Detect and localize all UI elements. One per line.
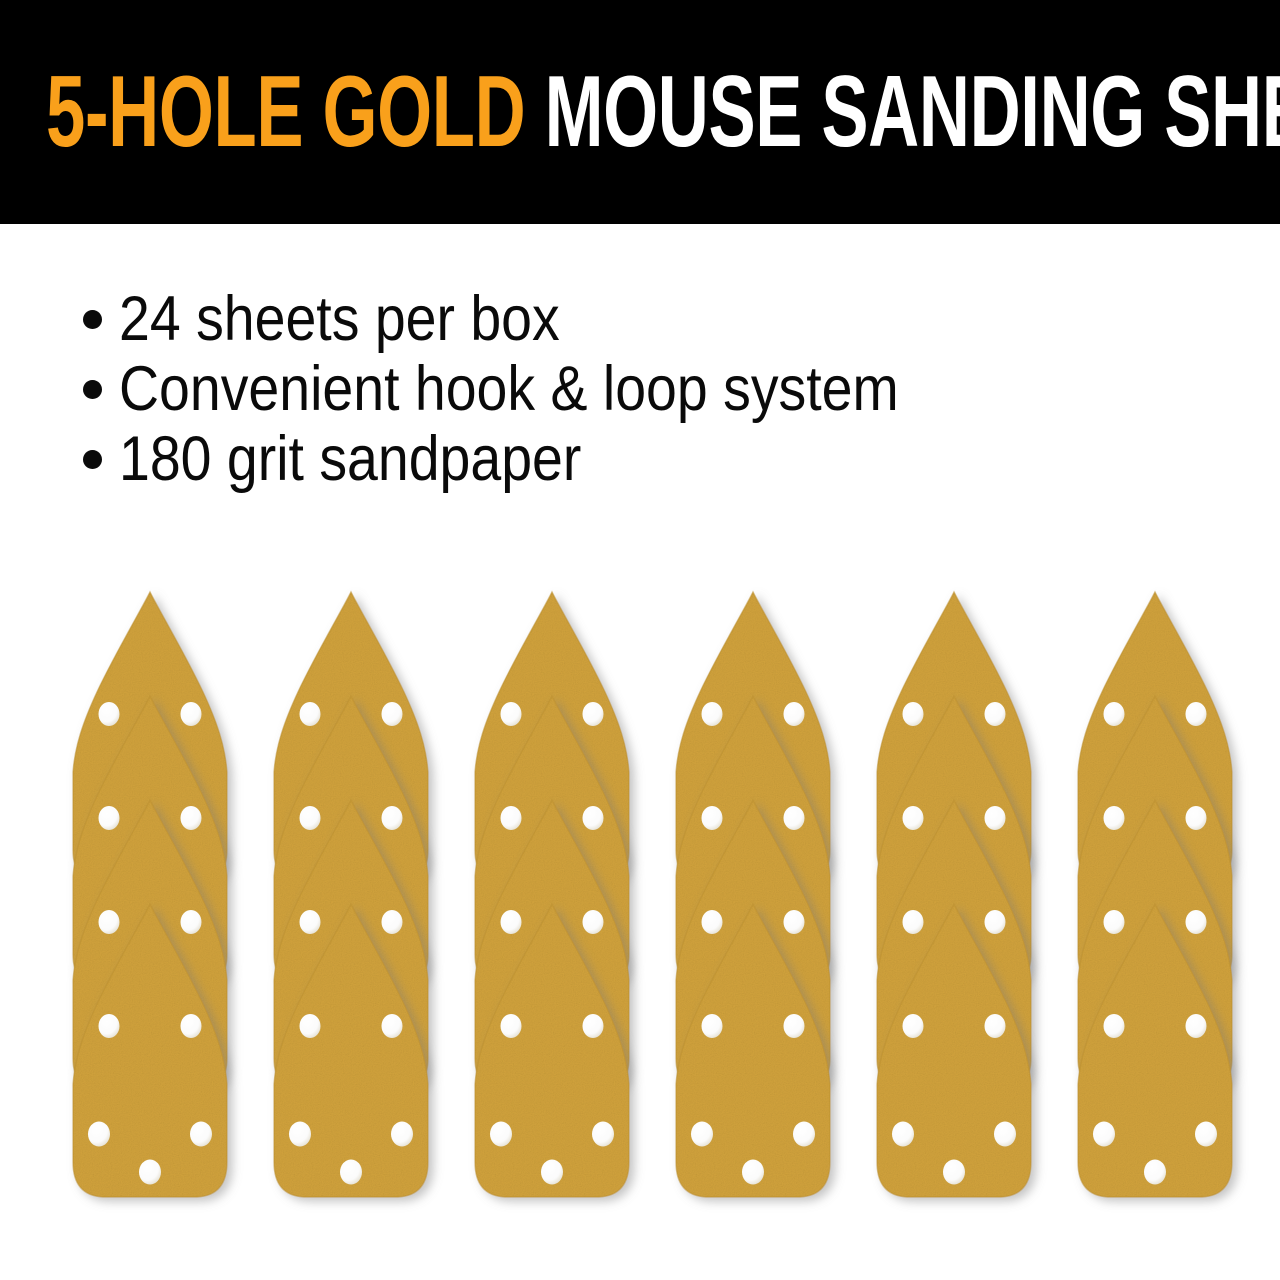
bullet-icon <box>83 450 102 469</box>
sheet-body <box>1078 904 1232 1197</box>
dust-extraction-hole <box>1104 1014 1125 1038</box>
sanding-sheet <box>861 900 1047 1210</box>
title-accent-text: 5-HOLE GOLD <box>46 56 525 168</box>
dust-extraction-hole <box>903 1014 924 1038</box>
dust-extraction-hole <box>391 1122 413 1147</box>
product-image-sanding-sheets <box>0 560 1280 1280</box>
dust-extraction-hole <box>190 1122 212 1147</box>
sheet-body <box>73 904 227 1197</box>
dust-extraction-hole <box>1195 1122 1217 1147</box>
dust-extraction-hole <box>88 1122 110 1147</box>
dust-extraction-hole <box>943 1160 965 1185</box>
sanding-sheet <box>1062 900 1248 1210</box>
dust-extraction-hole <box>490 1122 512 1147</box>
dust-extraction-hole <box>702 1014 723 1038</box>
sheet-column <box>459 560 659 1280</box>
dust-extraction-hole <box>541 1160 563 1185</box>
feature-item: Convenient hook & loop system <box>78 354 1078 424</box>
bullet-icon <box>83 380 102 399</box>
feature-label: Convenient hook & loop system <box>119 358 899 421</box>
dust-extraction-hole <box>1093 1122 1115 1147</box>
feature-item: 180 grit sandpaper <box>78 424 1078 494</box>
sanding-sheet <box>459 900 645 1210</box>
dust-extraction-hole <box>382 1014 403 1038</box>
sheet-column <box>861 560 1061 1280</box>
product-infographic: 5-HOLE GOLD MOUSE SANDING SHEETS 24 shee… <box>0 0 1280 1280</box>
bullet-icon <box>83 310 102 329</box>
sheet-column <box>660 560 860 1280</box>
sheet-body <box>475 904 629 1197</box>
feature-list: 24 sheets per box Convenient hook & loop… <box>78 284 1078 494</box>
dust-extraction-hole <box>139 1160 161 1185</box>
title-main-text: MOUSE SANDING SHEETS <box>525 56 1280 168</box>
feature-item: 24 sheets per box <box>78 284 1078 354</box>
dust-extraction-hole <box>985 1014 1006 1038</box>
dust-extraction-hole <box>1186 1014 1207 1038</box>
dust-extraction-hole <box>742 1160 764 1185</box>
dust-extraction-hole <box>99 1014 120 1038</box>
dust-extraction-hole <box>784 1014 805 1038</box>
dust-extraction-hole <box>300 1014 321 1038</box>
header-banner: 5-HOLE GOLD MOUSE SANDING SHEETS <box>0 0 1280 224</box>
dust-extraction-hole <box>501 1014 522 1038</box>
sheet-column <box>1062 560 1262 1280</box>
sheet-column <box>258 560 458 1280</box>
sanding-sheet <box>57 900 243 1210</box>
dust-extraction-hole <box>994 1122 1016 1147</box>
sheet-body <box>877 904 1031 1197</box>
dust-extraction-hole <box>1144 1160 1166 1185</box>
sanding-sheet <box>258 900 444 1210</box>
sheet-body <box>274 904 428 1197</box>
dust-extraction-hole <box>892 1122 914 1147</box>
sheet-column <box>57 560 257 1280</box>
sanding-sheet <box>660 900 846 1210</box>
dust-extraction-hole <box>691 1122 713 1147</box>
dust-extraction-hole <box>583 1014 604 1038</box>
feature-label: 24 sheets per box <box>119 288 560 351</box>
dust-extraction-hole <box>289 1122 311 1147</box>
dust-extraction-hole <box>340 1160 362 1185</box>
dust-extraction-hole <box>181 1014 202 1038</box>
page-title: 5-HOLE GOLD MOUSE SANDING SHEETS <box>46 62 886 162</box>
feature-label: 180 grit sandpaper <box>119 428 581 491</box>
dust-extraction-hole <box>592 1122 614 1147</box>
dust-extraction-hole <box>793 1122 815 1147</box>
sheet-body <box>676 904 830 1197</box>
